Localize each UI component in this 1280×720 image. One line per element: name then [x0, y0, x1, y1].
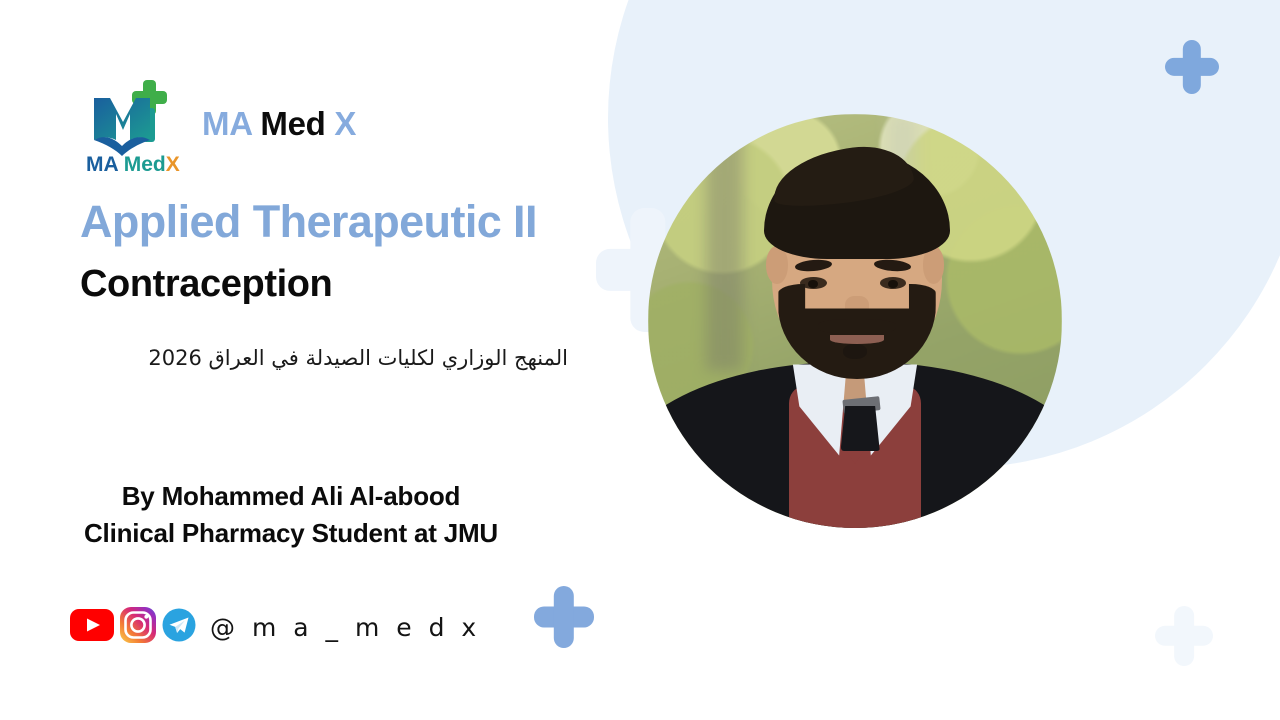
portrait-pupil-left [808, 280, 818, 289]
page-subtitle: Contraception [80, 265, 332, 305]
youtube-icon[interactable] [70, 609, 114, 646]
cross-bottom-right-icon [1155, 606, 1213, 666]
brand-wordmark-x: X [334, 105, 356, 142]
brand-lockup: MA MedX MA Med X [86, 78, 356, 174]
avatar [648, 114, 1062, 528]
portrait-pupil-right [888, 280, 898, 289]
cross-vertical-bar [1174, 606, 1194, 666]
portrait-mouth [830, 335, 884, 344]
mamedx-logo-icon: MA MedX [86, 78, 184, 174]
brand-wordmark-ma: MA [202, 105, 252, 142]
social-handle: @ m a _ m e d x [210, 613, 481, 642]
brand-wordmark-med: Med [260, 105, 325, 142]
instagram-icon[interactable] [119, 606, 157, 649]
author-affiliation: Clinical Pharmacy Student at JMU [0, 515, 582, 552]
background-blur-shape [706, 114, 743, 371]
cross-top-right-icon [1165, 40, 1219, 94]
portrait-mustache [818, 319, 897, 334]
svg-text:MA MedX: MA MedX [86, 153, 180, 174]
author-name: By Mohammed Ali Al-abood [0, 478, 582, 515]
slide-content-column: MA MedX MA Med X Applied Therapeutic II … [0, 0, 640, 720]
portrait-tie-knot [841, 406, 880, 452]
telegram-icon[interactable] [162, 608, 196, 647]
author-block: By Mohammed Ali Al-abood Clinical Pharma… [0, 478, 640, 552]
presentation-slide: MA MedX MA Med X Applied Therapeutic II … [0, 0, 1280, 720]
brand-wordmark: MA Med X [202, 107, 356, 146]
portrait-chin-beard [843, 344, 868, 359]
arabic-subtitle: المنهج الوزاري لكليات الصيدلة في العراق … [88, 344, 568, 373]
social-links: @ m a _ m e d x [70, 606, 481, 649]
cross-vertical-bar [1183, 40, 1201, 94]
page-title: Applied Therapeutic II [80, 198, 537, 245]
